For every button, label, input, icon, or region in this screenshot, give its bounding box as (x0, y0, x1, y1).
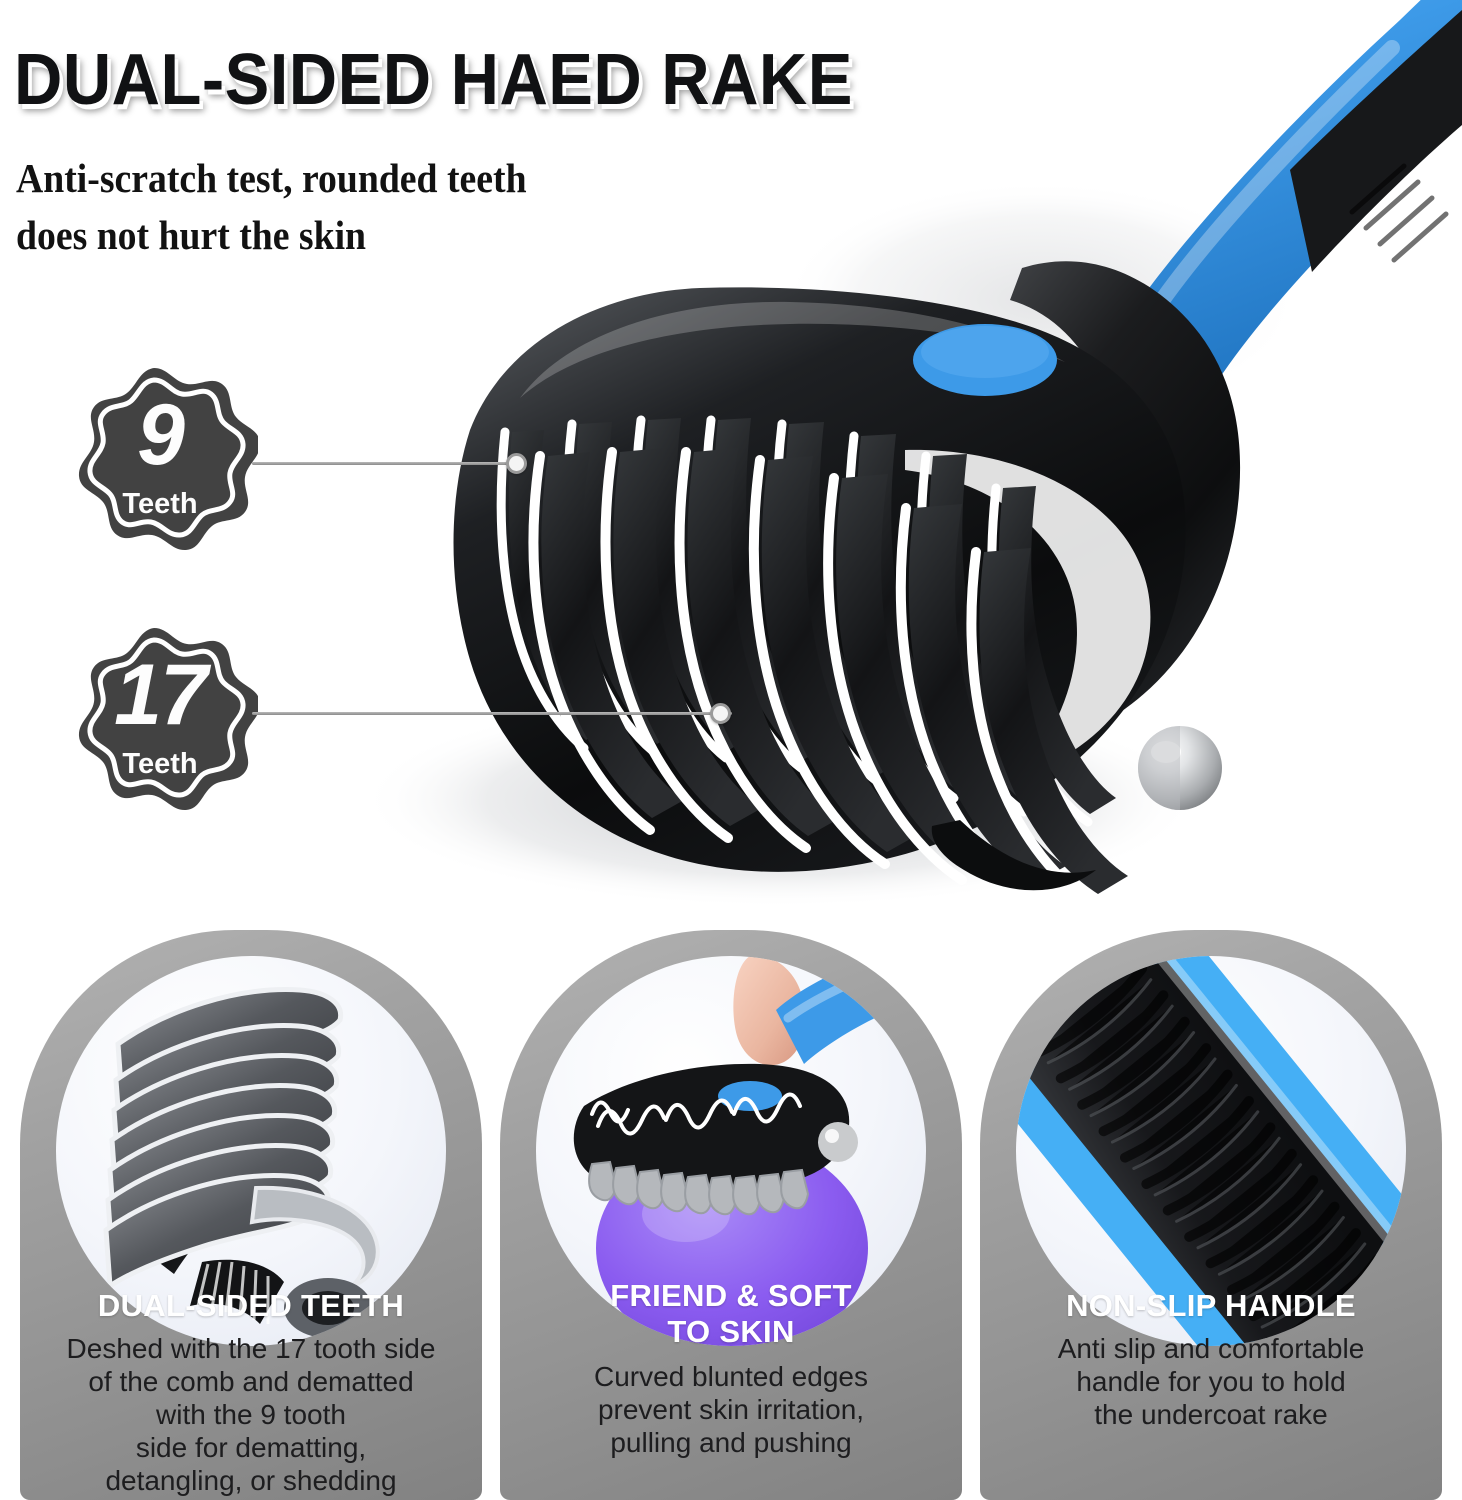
panel-title: DUAL-SIDED TEETH (32, 1288, 470, 1324)
leader-endpoint-dot (710, 703, 731, 724)
panel-body: Deshed with the 17 tooth side of the com… (34, 1332, 468, 1497)
rivet-icon (1138, 726, 1222, 810)
callout-leader-line-9 (252, 459, 524, 468)
badge-number: 17 (62, 652, 258, 738)
badge-label: Teeth (62, 488, 258, 520)
feature-panel-friend-soft-to-skin: FRIEND & SOFT TO SKIN Curved blunted edg… (500, 930, 962, 1500)
panel-body: Anti slip and comfortable handle for you… (994, 1332, 1428, 1431)
callout-badge-17-teeth: 17 Teeth (62, 622, 258, 818)
callout-leader-line-17 (252, 709, 732, 718)
callout-badge-9-teeth: 9 Teeth (62, 362, 258, 558)
feature-panel-non-slip-handle: NON-SLIP HANDLE Anti slip and comfortabl… (980, 930, 1442, 1500)
feature-panels: DUAL-SIDED TEETH Deshed with the 17 toot… (0, 930, 1462, 1500)
badge-number: 9 (62, 392, 258, 478)
leader-line (252, 712, 732, 715)
badge-label: Teeth (62, 748, 258, 780)
leader-line (252, 462, 524, 465)
panel-title: NON-SLIP HANDLE (992, 1288, 1430, 1324)
leader-endpoint-dot (506, 453, 527, 474)
infographic-page: DUAL-SIDED HAED RAKE Anti-scratch test, … (0, 0, 1462, 1500)
feature-panel-dual-sided-teeth: DUAL-SIDED TEETH Deshed with the 17 toot… (20, 930, 482, 1500)
panel-title: FRIEND & SOFT TO SKIN (512, 1278, 950, 1350)
panel-body: Curved blunted edges prevent skin irrita… (514, 1360, 948, 1459)
